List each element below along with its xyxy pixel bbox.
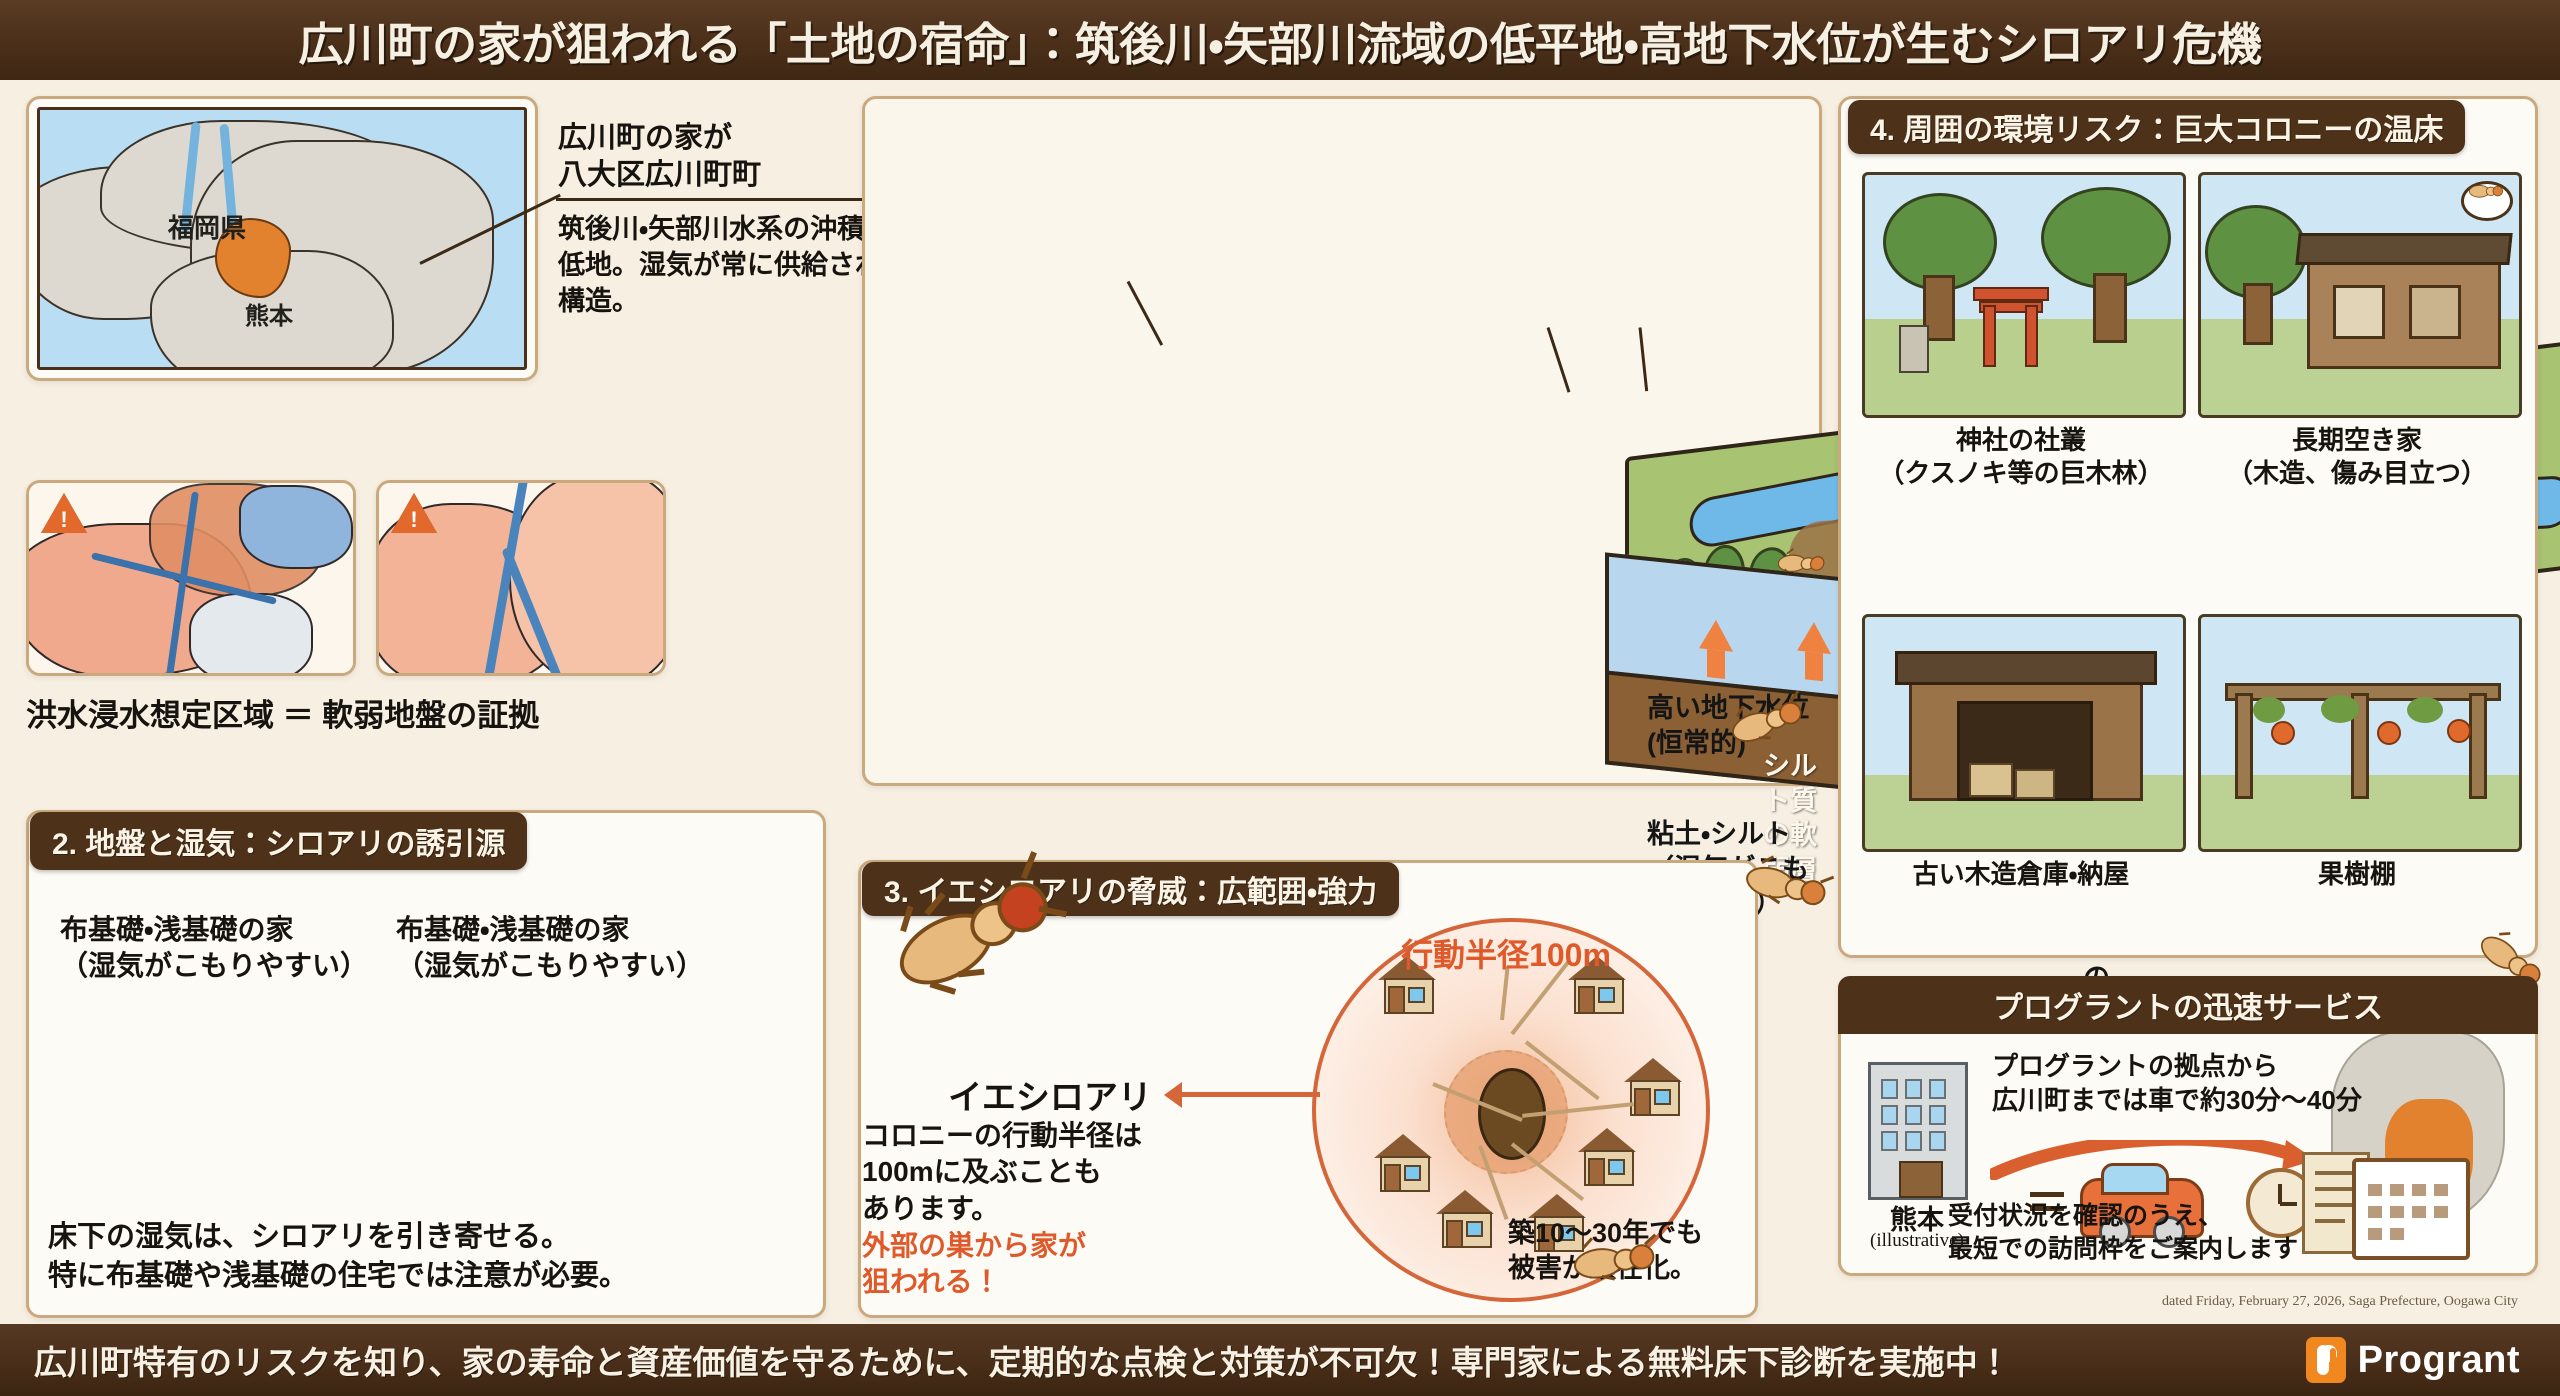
fruit-icon <box>2377 721 2401 745</box>
service-booking-text: 受付状況を確認のうえ、 最短での訪問枠をご案内します <box>1948 1200 2298 1265</box>
label-foundation-right: 布基礎・浅基礎の家 （湿気がこもりやすい） <box>396 912 704 985</box>
caption-wooden-warehouse: 古い木造倉庫・納屋 <box>1862 858 2180 891</box>
flood-hazard-map-wide <box>26 480 356 676</box>
stone-lantern-icon <box>1899 325 1929 373</box>
radius-arrow-icon <box>1180 1092 1320 1097</box>
progrant-logo-icon <box>2306 1337 2346 1383</box>
warning-triangle-icon <box>41 493 87 533</box>
brand-lockup: Progrant <box>2306 1337 2520 1383</box>
foliage <box>2253 697 2285 723</box>
hazard-caption: 洪水浸水想定区域 ＝ 軟弱地盤の証拠 <box>26 690 666 735</box>
foliage <box>2407 697 2443 723</box>
foliage <box>2321 695 2359 723</box>
hazard-zone-2 <box>509 483 663 673</box>
house-icon <box>1578 1128 1636 1182</box>
fruit-icon <box>2271 721 2295 745</box>
footer-message: 広川町特有のリスクを知り、家の寿命と資産価値を守るために、定期的な点検と対策が不… <box>34 1336 2011 1384</box>
service-panel-title: プログラントの迅速サービス <box>1838 976 2538 1034</box>
hazard-map-b-art <box>379 483 663 673</box>
trellis-post <box>2235 693 2253 799</box>
warehouse-roof <box>1895 651 2157 685</box>
moisture-arrow-icon <box>1699 618 1733 652</box>
torii-gate-icon <box>1973 287 2049 301</box>
service-travel-text: プログラントの拠点から 広川町までは車で約30分〜40分 <box>1992 1050 2362 1118</box>
hazard-map-a-art <box>29 483 353 673</box>
infographic-page: 広川町の家が狙われる「土地の宿命」：筑後川・矢部川流域の低平地・高地下水位が生む… <box>0 0 2560 1396</box>
equals-sign <box>2030 1192 2064 1197</box>
trunk <box>2093 273 2127 343</box>
torii-pillar <box>2025 305 2038 367</box>
caption-vacant-house: 長期空き家 （木造、傷み目立つ） <box>2198 424 2516 489</box>
entrance <box>1899 1161 1943 1198</box>
colony-radius-label: 行動半径100m <box>1296 930 1716 976</box>
caption-fruit-trellis: 果樹棚 <box>2198 858 2516 891</box>
window <box>2333 285 2385 339</box>
section-1-panel: 1. 土地の宿命：地形と地盤特性 自然堤防 (微高地) 後背湿地・旧河道 （軟弱… <box>862 96 1822 786</box>
moisture-arrow-icon <box>1797 621 1831 655</box>
dotted-zone <box>189 593 313 673</box>
photo-fruit-trellis <box>2198 614 2522 852</box>
prefecture-label: 福岡県 <box>168 208 246 245</box>
house-icon <box>1374 1134 1432 1188</box>
credit-line: dated Friday, February 27, 2026, Saga Pr… <box>2162 1294 2518 1310</box>
fruit-icon <box>2447 719 2471 743</box>
page-header: 広川町の家が狙われる「土地の宿命」：筑後川・矢部川流域の低平地・高地下水位が生む… <box>0 0 2560 80</box>
crate <box>2015 769 2055 799</box>
trunk <box>2243 283 2273 345</box>
kyushu-map: 福岡県 熊本 <box>37 107 527 370</box>
brand-name: Progrant <box>2358 1339 2520 1382</box>
warning-triangle-icon <box>391 493 437 533</box>
section-4-title: 4. 周囲の環境リスク：巨大コロニーの温床 <box>1848 100 2465 154</box>
section-2-note: 床下の湿気は、シロアリを引き寄せる。 特に布基礎や浅基礎の住宅では注意が必要。 <box>48 1218 628 1296</box>
section-3-alert: 外部の巣から家が 狙われる！ <box>862 1228 1182 1301</box>
photo-shrine-grove <box>1862 172 2186 418</box>
flood-hazard-map-detail <box>376 480 666 676</box>
page-title: 広川町の家が狙われる「土地の宿命」：筑後川・矢部川流域の低平地・高地下水位が生む… <box>299 8 2262 73</box>
neighbor-label: 熊本 <box>245 296 293 331</box>
torii-pillar <box>1983 305 1996 367</box>
page-footer: 広川町特有のリスクを知り、家の寿命と資産価値を守るために、定期的な点検と対策が不… <box>0 1324 2560 1396</box>
section-3-body: コロニーの行動半径は 100mに及ぶことも あります。 <box>862 1118 1182 1227</box>
termite-species-name: イエシロアリ <box>910 1070 1190 1119</box>
house-icon <box>1436 1190 1494 1244</box>
vacant-house-roof <box>2295 233 2512 265</box>
location-map-panel: 福岡県 熊本 <box>26 96 538 381</box>
photo-vacant-house <box>2198 172 2522 418</box>
caption-shrine-grove: 神社の社叢 （クスノキ等の巨木林） <box>1862 424 2180 489</box>
section-3-title: 3. イエシロアリの脅威：広範囲・強力 <box>862 862 1399 916</box>
section-2-title: 2. 地盤と湿気：シロアリの誘引源 <box>30 812 527 870</box>
inundation-zone <box>239 485 353 569</box>
label-foundation-left: 布基礎・浅基礎の家 （湿気がこもりやすい） <box>60 912 368 985</box>
photo-wooden-warehouse <box>1862 614 2186 852</box>
window <box>2409 285 2461 339</box>
calendar-icon <box>2352 1158 2470 1260</box>
office-building-icon <box>1868 1062 1968 1200</box>
trellis-post <box>2469 693 2487 799</box>
crate <box>1969 763 2013 797</box>
